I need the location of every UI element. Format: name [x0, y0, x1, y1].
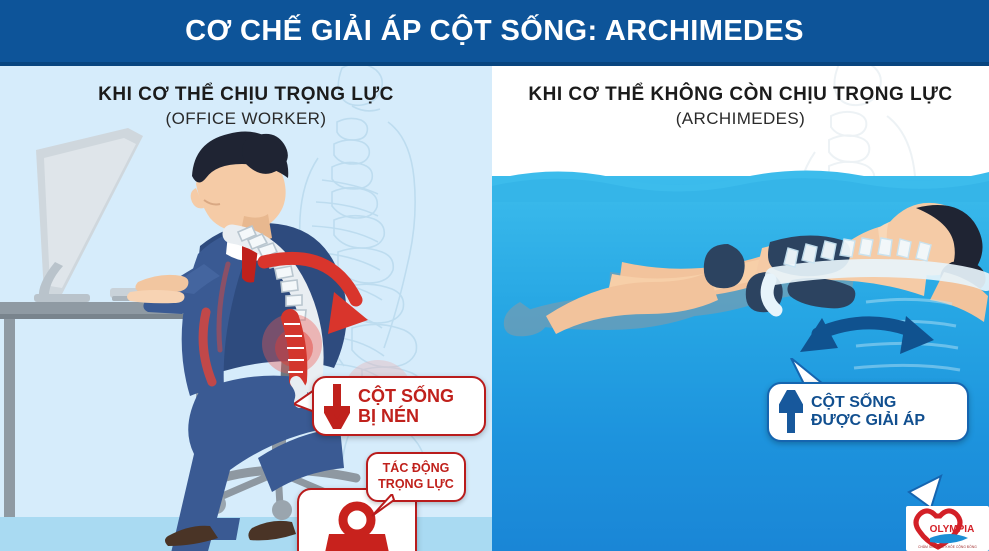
arrow-down-icon — [324, 383, 350, 429]
right-title-main: KHI CƠ THỂ KHÔNG CÒN CHỊU TRỌNG LỰC — [492, 84, 989, 106]
callout-decompress-line2: ĐƯỢC GIẢI ÁP — [811, 412, 925, 430]
right-panel-title: KHI CƠ THỂ KHÔNG CÒN CHỊU TRỌNG LỰC (ARC… — [492, 84, 989, 129]
infographic-root: CƠ CHẾ GIẢI ÁP CỘT SỐNG: ARCHIMEDES — [0, 0, 989, 551]
olympia-logo[interactable]: OLYMPIA CHĂM SÓC SỨC KHỎE CỘNG ĐỒNG — [906, 506, 989, 551]
left-panel-title: KHI CƠ THỂ CHỊU TRỌNG LỰC (OFFICE WORKER… — [0, 84, 492, 129]
water-card-tail — [903, 474, 943, 510]
logo-wordmark: OLYMPIA — [930, 524, 975, 535]
logo-swoosh-icon — [930, 534, 968, 543]
logo-tagline: CHĂM SÓC SỨC KHỎE CỘNG ĐỒNG — [906, 545, 989, 549]
monitor-icon — [34, 128, 143, 302]
arrow-up-icon — [779, 390, 803, 434]
header-bar: CƠ CHẾ GIẢI ÁP CỘT SỐNG: ARCHIMEDES — [0, 0, 989, 62]
callout-spine-line1: CỘT SỐNG — [358, 386, 454, 406]
left-panel: KHI CƠ THỂ CHỊU TRỌNG LỰC (OFFICE WORKER… — [0, 66, 492, 551]
callout-spine-compressed[interactable]: CỘT SỐNG BỊ NÉN — [312, 376, 486, 436]
right-panel: KHI CƠ THỂ KHÔNG CÒN CHỊU TRỌNG LỰC (ARC… — [492, 66, 989, 551]
callout-spine-decompressed[interactable]: CỘT SỐNG ĐƯỢC GIẢI ÁP — [767, 382, 969, 442]
page-title: CƠ CHẾ GIẢI ÁP CỘT SỐNG: ARCHIMEDES — [185, 15, 804, 48]
callout-decompress-line1: CỘT SỐNG — [811, 394, 925, 412]
gravity-bubble-line2: TRỌNG LỰC — [378, 477, 454, 493]
left-title-main: KHI CƠ THỂ CHỊU TRỌNG LỰC — [0, 84, 492, 106]
right-title-sub: (ARCHIMEDES) — [492, 109, 989, 129]
left-title-sub: (OFFICE WORKER) — [0, 109, 492, 129]
gravity-bubble-tail — [370, 494, 396, 518]
gravity-bubble-line1: TÁC ĐỘNG — [383, 461, 450, 477]
callout-spine-line2: BỊ NÉN — [358, 406, 454, 426]
